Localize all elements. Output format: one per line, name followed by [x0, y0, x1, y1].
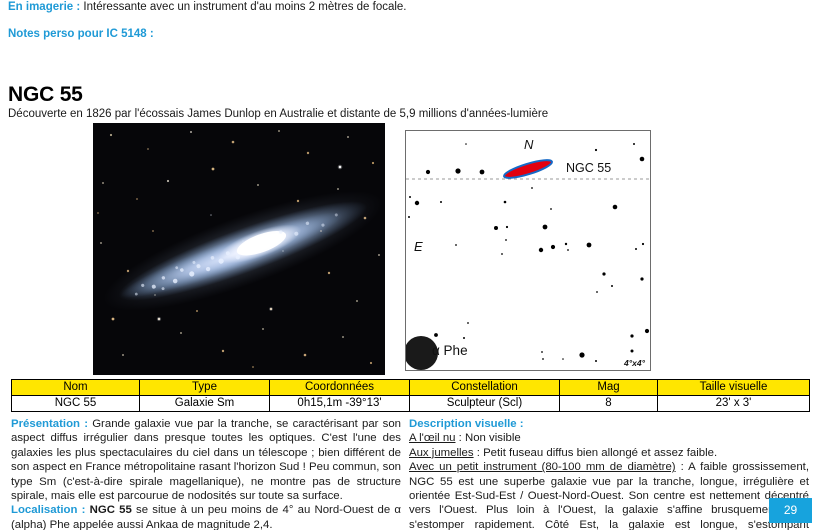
note-line-perso: Notes perso pour IC 5148 : — [8, 28, 154, 40]
table-cell-type: Galaxie Sm — [140, 396, 270, 412]
chart-north-label: N — [524, 137, 533, 152]
chart-east-label: E — [414, 239, 423, 254]
table-cell-taille: 23' x 3' — [658, 396, 810, 412]
localisation-object-name: NGC 55 — [90, 504, 132, 516]
entry-term-small-instrument: Avec un petit instrument (80-100 mm de d… — [409, 461, 676, 473]
chart-object-label: NGC 55 — [566, 161, 611, 175]
table-cell-coordonnees: 0h15,1m -39°13' — [270, 396, 410, 412]
table-cell-mag: 8 — [560, 396, 658, 412]
description-entry-naked-eye: A l'œil nu : Non visible — [409, 431, 809, 445]
table-header-taille: Taille visuelle — [658, 380, 810, 396]
object-data-table: Nom Type Coordonnées Constellation Mag T… — [11, 379, 810, 412]
document-page: En imagerie : Intéressante avec un instr… — [0, 0, 820, 530]
description-entry-small-instrument: Avec un petit instrument (80-100 mm de d… — [409, 460, 809, 530]
localisation-paragraph: Localisation : NGC 55 se situe à un peu … — [11, 503, 401, 530]
presentation-label: Présentation : — [11, 418, 88, 430]
table-header-nom: Nom — [12, 380, 140, 396]
presentation-paragraph: Présentation : Grande galaxie vue par la… — [11, 417, 401, 503]
object-title: NGC 55 — [8, 83, 83, 107]
note-label-imagerie: En imagerie : — [8, 1, 80, 13]
galaxy-photograph — [93, 123, 385, 375]
entry-text-naked-eye: : Non visible — [456, 432, 521, 444]
table-header-type: Type — [140, 380, 270, 396]
left-text-column: Présentation : Grande galaxie vue par la… — [11, 417, 401, 530]
entry-term-naked-eye: A l'œil nu — [409, 432, 456, 444]
description-heading-label: Description visuelle : — [409, 418, 524, 430]
page-number-badge: 29 — [769, 498, 812, 523]
localisation-label: Localisation : — [11, 504, 85, 516]
note-line-imagerie: En imagerie : Intéressante avec un instr… — [8, 1, 407, 13]
table-header-mag: Mag — [560, 380, 658, 396]
chart-alpha-phe-label: α Phe — [432, 343, 468, 358]
finder-star-chart: N E NGC 55 α Phe 4°x4° — [405, 130, 651, 371]
entry-text-binoculars: : Petit fuseau diffus bien allongé et as… — [474, 447, 718, 459]
object-subtitle: Découverte en 1826 par l'écossais James … — [8, 108, 548, 120]
table-cell-constellation: Sculpteur (Scl) — [410, 396, 560, 412]
description-heading: Description visuelle : — [409, 417, 809, 431]
chart-scale-label: 4°x4° — [624, 358, 645, 368]
table-header-coordonnees: Coordonnées — [270, 380, 410, 396]
table-header-row: Nom Type Coordonnées Constellation Mag T… — [12, 380, 810, 396]
right-text-column: Description visuelle : A l'œil nu : Non … — [409, 417, 809, 530]
table-cell-nom: NGC 55 — [12, 396, 140, 412]
star-chart-graphic — [406, 131, 650, 370]
galaxy-photo-graphic — [93, 123, 385, 375]
description-entry-binoculars: Aux jumelles : Petit fuseau diffus bien … — [409, 446, 809, 460]
table-header-constellation: Constellation — [410, 380, 560, 396]
entry-term-binoculars: Aux jumelles — [409, 447, 474, 459]
table-row: NGC 55 Galaxie Sm 0h15,1m -39°13' Sculpt… — [12, 396, 810, 412]
note-label-perso: Notes perso pour IC 5148 : — [8, 28, 154, 40]
presentation-text: Grande galaxie vue par la tranche, se ca… — [11, 418, 401, 502]
note-text-imagerie: Intéressante avec un instrument d'au moi… — [80, 1, 406, 13]
